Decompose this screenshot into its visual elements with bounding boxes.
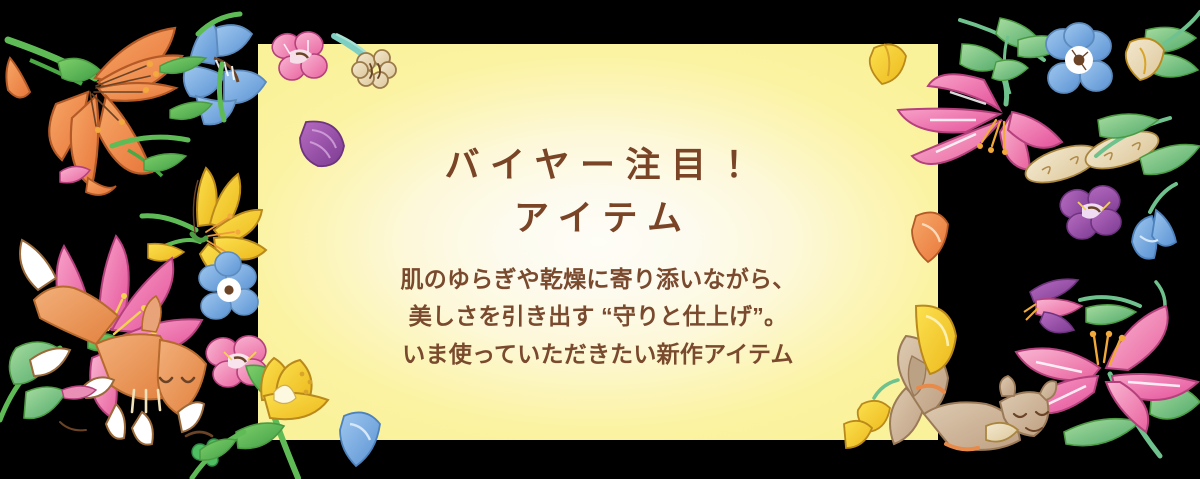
yellow-bud-right-icon xyxy=(1126,12,1200,80)
banner-text-block: バイヤー注目！ アイテム 肌のゆらぎや乾燥に寄り添いながら、 美しさを引き出す … xyxy=(258,44,938,440)
headline-line-2: アイテム xyxy=(503,193,692,246)
blue-flower-right-icon xyxy=(1046,23,1112,93)
body-line-3: いま使っていただきたい新作アイテム xyxy=(401,336,796,373)
green-sprig-icon xyxy=(192,432,244,478)
promo-banner: バイヤー注目！ アイテム 肌のゆらぎや乾燥に寄り添いながら、 美しさを引き出す … xyxy=(0,0,1200,479)
teal-leaf-icon xyxy=(160,434,208,457)
blue-bellflower-icon xyxy=(1132,184,1176,259)
fox-icon xyxy=(20,166,221,466)
body-copy: 肌のゆらぎや乾燥に寄り添いながら、 美しさを引き出す “守りと仕上げ”。 いま使… xyxy=(401,261,796,373)
purple-pansy-icon xyxy=(1056,182,1123,239)
green-leaf-spray-right-icon xyxy=(960,18,1198,94)
pink-lily-large-icon xyxy=(1016,306,1200,456)
headline-line-1: バイヤー注目！ xyxy=(434,140,762,193)
orange-lily-icon xyxy=(6,28,182,195)
pink-cosmos-icon xyxy=(0,236,202,420)
blue-small-flower-left-icon xyxy=(199,252,258,319)
blue-iris-icon xyxy=(160,14,266,125)
purple-lily-small-icon xyxy=(1024,279,1165,332)
body-line-2: 美しさを引き出す “守りと仕上げ”。 xyxy=(401,298,796,335)
body-line-1: 肌のゆらぎや乾燥に寄り添いながら、 xyxy=(401,261,796,298)
green-leaf-spray-left-icon xyxy=(112,137,188,176)
yellow-seed-pods-icon xyxy=(1021,114,1200,190)
yellow-lily-icon xyxy=(142,168,266,284)
